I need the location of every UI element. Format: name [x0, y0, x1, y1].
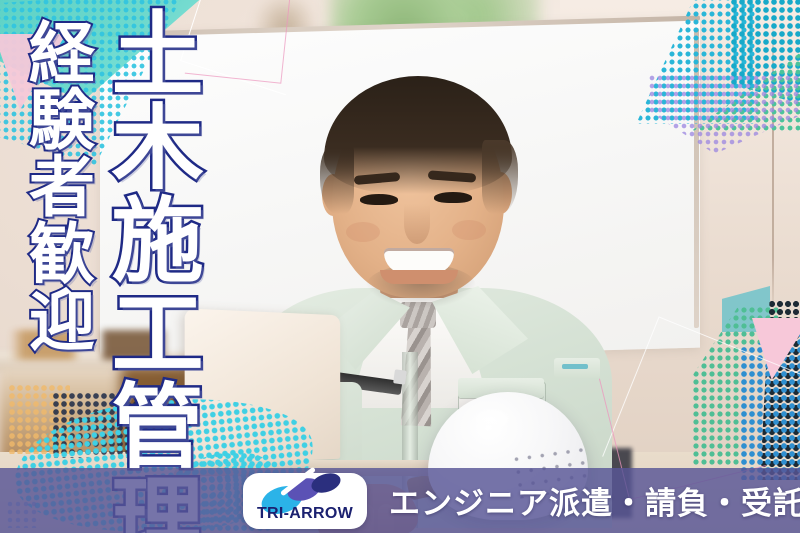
company-logo[interactable]: TRI-ARROW — [243, 473, 367, 529]
services-tagline: エンジニア派遣・請負・受託開発 — [389, 478, 800, 523]
halftone-purple-top-right — [648, 74, 800, 154]
page-title: 土木施工管理 — [104, 6, 194, 533]
recruitment-banner: 土木施工管理 経験者歓迎 TRI-ARROW エンジニア派遣・請負・受託開発 — [0, 0, 800, 533]
subtitle: 経験者歓迎 — [24, 18, 90, 353]
logo-wordmark: TRI-ARROW — [243, 505, 367, 523]
footer-content: TRI-ARROW エンジニア派遣・請負・受託開発 — [0, 468, 800, 533]
outline-triangle-pink-top — [185, 0, 292, 84]
